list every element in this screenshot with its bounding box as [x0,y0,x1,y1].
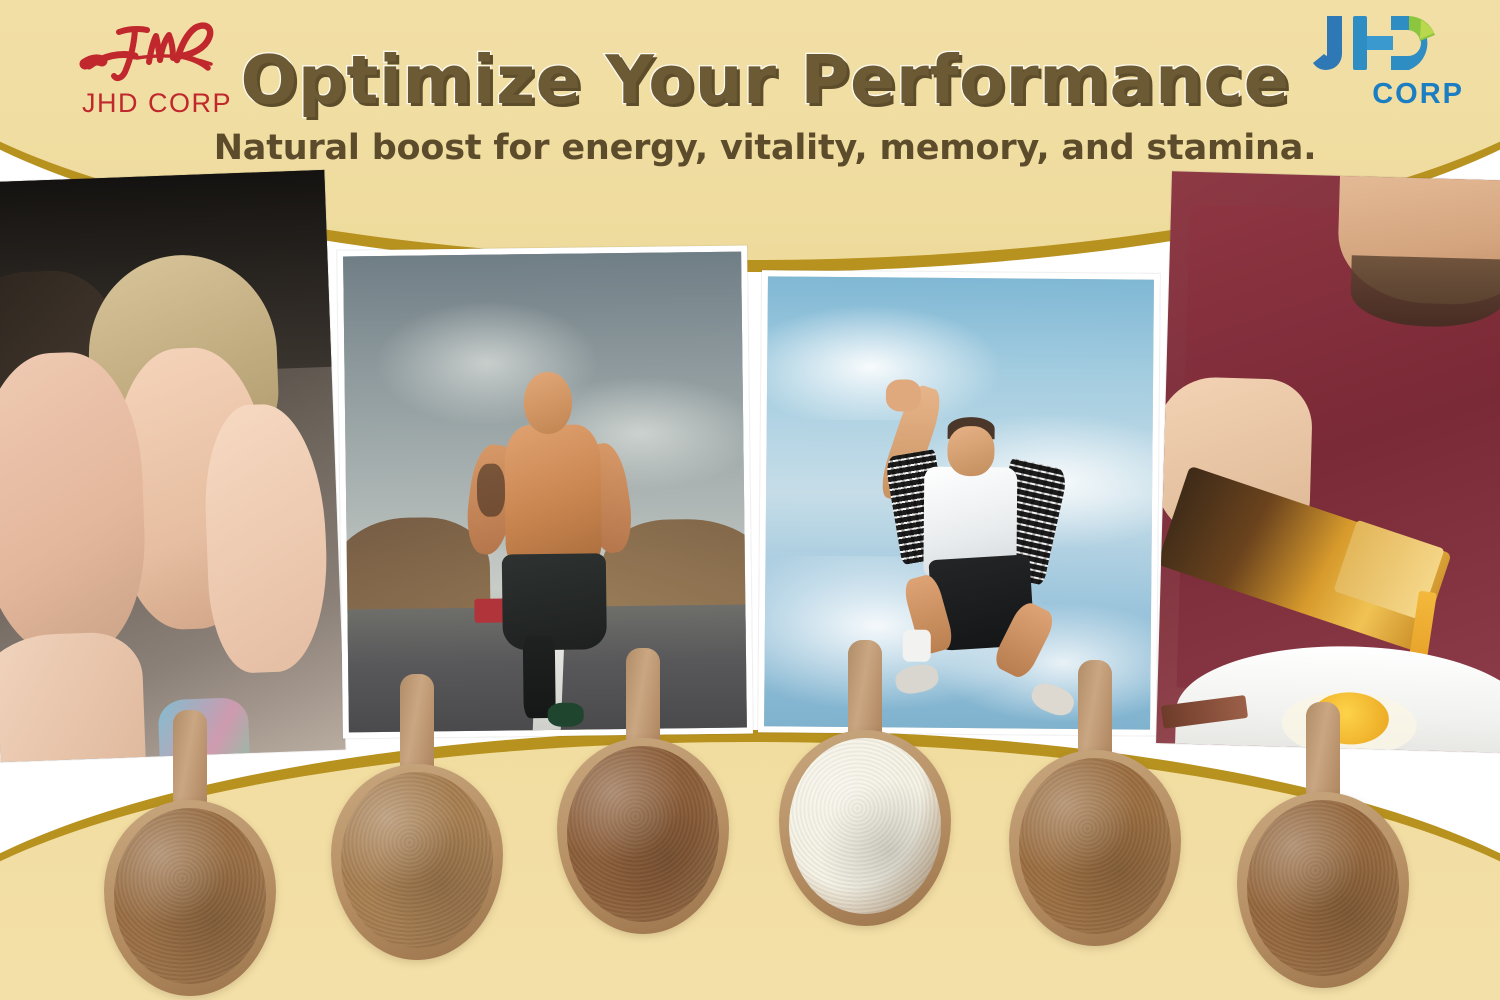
header-content: JHD CORP CORP Optimize Your Performance … [0,0,1500,1000]
page-subtitle: Natural boost for energy, vitality, memo… [0,128,1500,168]
page-title: Optimize Your Performance [30,46,1500,116]
headline-wrap: Optimize Your Performance [0,46,1500,116]
product-banner: JHD CORP CORP Optimize Your Performance … [0,0,1500,1000]
